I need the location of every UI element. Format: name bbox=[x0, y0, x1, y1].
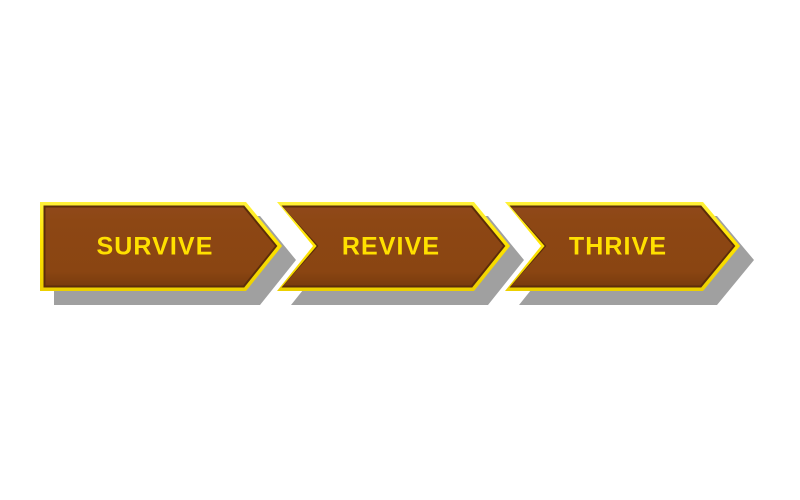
process-arrows-graphic: SURVIVE REVIVE THRIVE bbox=[0, 0, 800, 500]
step-label-revive: REVIVE bbox=[342, 233, 440, 261]
step-label-thrive: THRIVE bbox=[569, 233, 667, 261]
step-label-survive: SURVIVE bbox=[96, 233, 213, 261]
diagram-canvas: SURVIVE REVIVE THRIVE bbox=[0, 0, 800, 500]
process-step-revive[interactable]: REVIVE bbox=[277, 202, 510, 291]
process-step-survive[interactable]: SURVIVE bbox=[40, 202, 282, 291]
process-step-thrive[interactable]: THRIVE bbox=[505, 202, 740, 291]
